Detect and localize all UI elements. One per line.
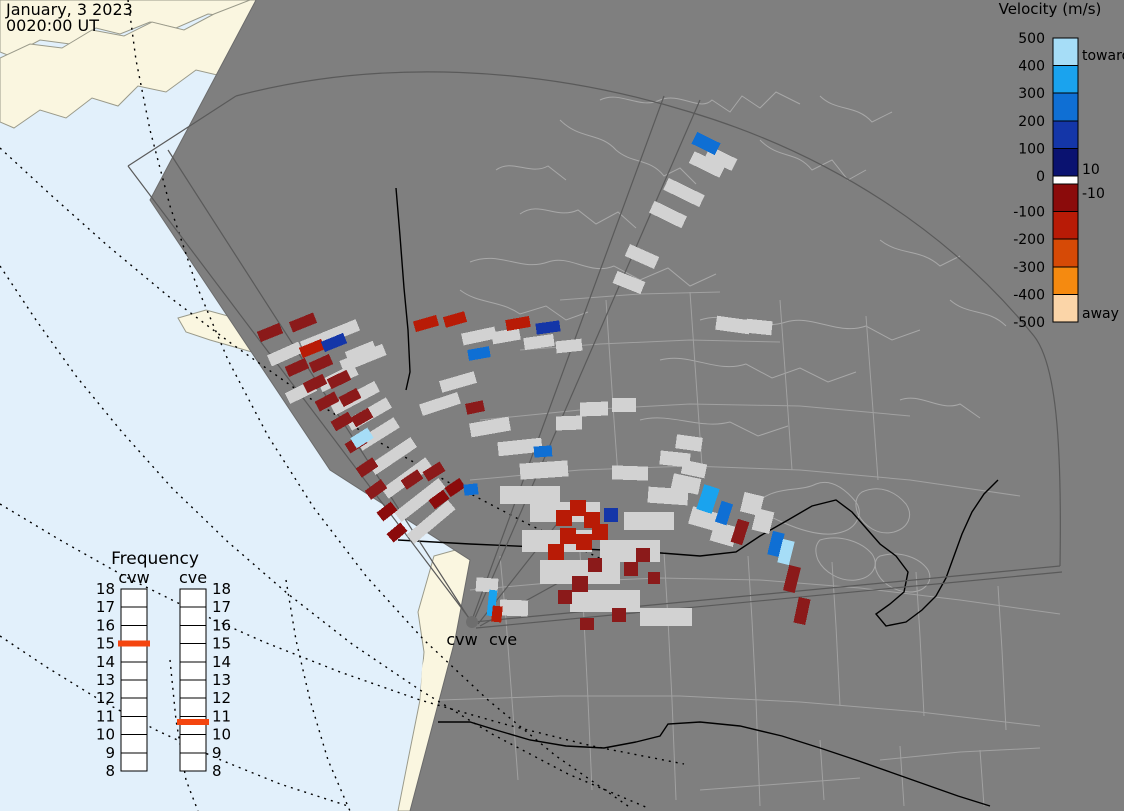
frequency-tick: 14 (96, 653, 115, 671)
frequency-scale-boxes[interactable] (121, 589, 206, 771)
frequency-column-label-cvw: cvw (118, 568, 149, 587)
frequency-tick: 16 (212, 616, 231, 634)
frequency-column-label-cve: cve (179, 568, 207, 587)
frequency-tick: 8 (105, 762, 115, 780)
frequency-tick: 10 (96, 726, 115, 744)
frequency-tick: 11 (212, 707, 231, 725)
frequency-tick: 9 (212, 744, 222, 762)
frequency-tick: 18 (212, 580, 231, 598)
frequency-tick: 13 (212, 671, 231, 689)
frequency-tick: 13 (96, 671, 115, 689)
frequency-tick: 9 (105, 744, 115, 762)
frequency-scale-labels: 1817161514131211109818171615141312111098 (96, 580, 231, 780)
frequency-title: Frequency (111, 549, 199, 569)
frequency-tick: 14 (212, 653, 231, 671)
frequency-tick: 15 (96, 635, 115, 653)
frequency-tick: 18 (96, 580, 115, 598)
frequency-tick: 16 (96, 616, 115, 634)
frequency-tick: 8 (212, 762, 222, 780)
frequency-marker (177, 719, 209, 725)
frequency-marker (118, 641, 150, 647)
frequency-tick: 11 (96, 707, 115, 725)
frequency-tick: 10 (212, 726, 231, 744)
frequency-tick: 17 (96, 598, 115, 616)
radar-map-stage: cvw cve January, 3 2023 0020:00 UT Veloc… (0, 0, 1124, 811)
frequency-tick: 17 (212, 598, 231, 616)
frequency-tick: 12 (212, 689, 231, 707)
frequency-tick: 15 (212, 635, 231, 653)
frequency-legend-layer[interactable]: Frequency cvw cve 1817161514131211109818… (0, 0, 1124, 811)
frequency-tick: 12 (96, 689, 115, 707)
